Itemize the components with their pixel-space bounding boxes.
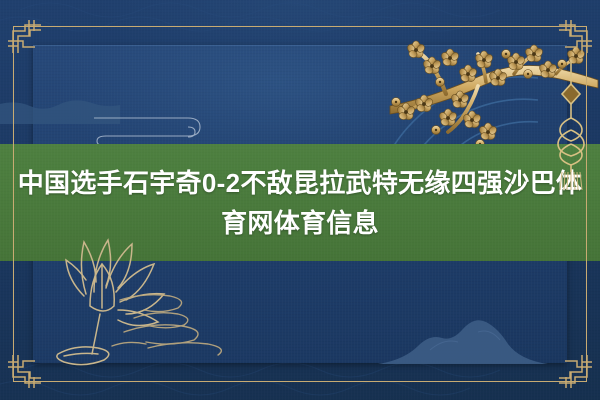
title-line-2: 育网体育信息 xyxy=(221,203,379,243)
page-title: 中国选手石宇奇0-2不敌昆拉武特无缘四强沙巴体 育网体育信息 xyxy=(0,144,600,261)
poster-canvas: 中国选手石宇奇0-2不敌昆拉武特无缘四强沙巴体 育网体育信息 xyxy=(0,0,600,400)
title-line-1: 中国选手石宇奇0-2不敌昆拉武特无缘四强沙巴体 xyxy=(18,163,582,203)
title-band: 中国选手石宇奇0-2不敌昆拉武特无缘四强沙巴体 育网体育信息 xyxy=(0,144,600,261)
